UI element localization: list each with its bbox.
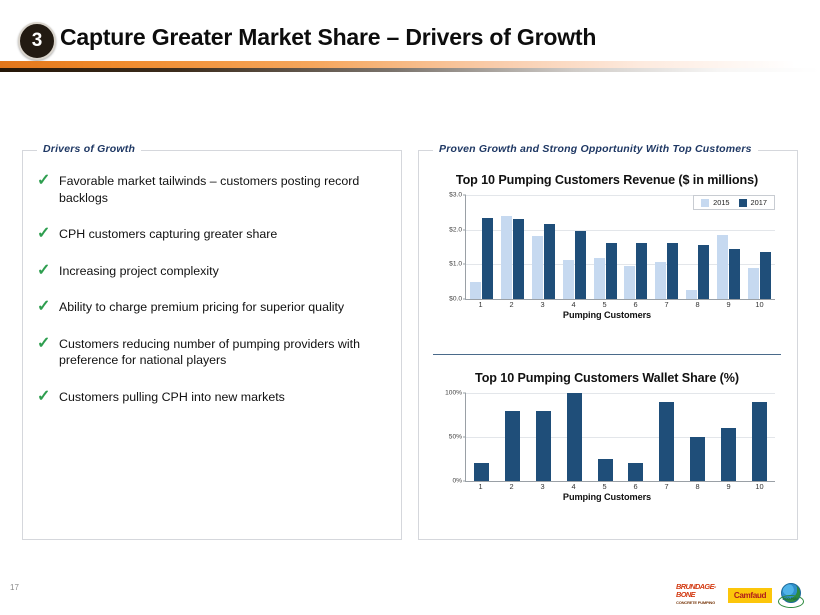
- x-axis-tick-label: 10: [744, 482, 775, 491]
- check-icon: ✓: [37, 263, 59, 278]
- x-axis-tick-label: 8: [682, 300, 713, 309]
- brundage-bone-logo-line2: BONE: [676, 591, 722, 599]
- brundage-bone-logo: BRUNDAGE- BONE CONCRETE PUMPING: [676, 585, 722, 605]
- y-axis-tick-label: 50%: [449, 434, 462, 441]
- legend-swatch: [701, 199, 709, 207]
- bar-group: [682, 195, 713, 299]
- x-axis-tick-label: 1: [465, 300, 496, 309]
- bar-group-container: [466, 195, 775, 299]
- x-axis-tick-label: 1: [465, 482, 496, 491]
- bar-group: [466, 393, 497, 481]
- revenue-chart-legend: 20152017: [693, 195, 775, 210]
- bar-group: [651, 393, 682, 481]
- check-icon: ✓: [37, 299, 59, 314]
- bar-group: [559, 195, 590, 299]
- brundage-bone-logo-line3: CONCRETE PUMPING: [676, 599, 722, 607]
- header-orange-rule: [0, 61, 820, 68]
- revenue-chart-xaxis-title: Pumping Customers: [433, 310, 781, 320]
- camfaud-logo: Camfaud: [728, 588, 772, 603]
- bar: [729, 249, 740, 299]
- x-axis-tick-label: 10: [744, 300, 775, 309]
- x-axis-tick-label: 4: [558, 300, 589, 309]
- x-axis-tick-label: 6: [620, 300, 651, 309]
- header-dark-rule: [0, 68, 820, 72]
- bullet-item: ✓Customers reducing number of pumping pr…: [37, 336, 389, 369]
- bar: [563, 260, 574, 299]
- legend-item: 2015: [701, 198, 729, 207]
- bullet-text: Customers pulling CPH into new markets: [59, 389, 285, 406]
- bar: [748, 268, 759, 299]
- y-axis-tick-label: $0.0: [449, 296, 462, 303]
- bar: [575, 231, 586, 299]
- y-axis-tick-label: 100%: [445, 390, 462, 397]
- bar: [482, 218, 493, 299]
- slide-header: 3 Capture Greater Market Share – Drivers…: [0, 0, 820, 78]
- bar: [690, 437, 705, 481]
- y-axis-tick-label: $1.0: [449, 261, 462, 268]
- legend-item: 2017: [739, 198, 767, 207]
- bar: [760, 252, 771, 299]
- bar: [667, 243, 678, 299]
- revenue-chart-xticks: 12345678910: [465, 300, 775, 309]
- bar-group: [682, 393, 713, 481]
- x-axis-tick-label: 4: [558, 482, 589, 491]
- bar: [721, 428, 736, 481]
- wallet-share-chart-plot: 0%50%100%: [465, 393, 775, 482]
- wallet-share-chart: Top 10 Pumping Customers Wallet Share (%…: [433, 371, 781, 521]
- section-number-badge: 3: [18, 22, 56, 60]
- bar-group: [621, 195, 652, 299]
- page-title: Capture Greater Market Share – Drivers o…: [60, 24, 596, 51]
- bar-group: [713, 195, 744, 299]
- bullet-item: ✓Ability to charge premium pricing for s…: [37, 299, 389, 316]
- bar-group: [744, 195, 775, 299]
- check-icon: ✓: [37, 226, 59, 241]
- revenue-chart: Top 10 Pumping Customers Revenue ($ in m…: [433, 173, 781, 343]
- check-icon: ✓: [37, 173, 59, 188]
- bullet-text: CPH customers capturing greater share: [59, 226, 277, 243]
- x-axis-tick-label: 7: [651, 300, 682, 309]
- bar: [752, 402, 767, 481]
- bar: [659, 402, 674, 481]
- bar-group: [466, 195, 497, 299]
- bullet-item: ✓Favorable market tailwinds – customers …: [37, 173, 389, 206]
- bar: [513, 219, 524, 299]
- chart-divider: [433, 354, 781, 355]
- bar-group-container: [466, 393, 775, 481]
- bar-group: [744, 393, 775, 481]
- check-icon: ✓: [37, 389, 59, 404]
- bar: [532, 236, 543, 299]
- bar-group: [559, 393, 590, 481]
- bar: [624, 266, 635, 299]
- bar: [594, 258, 605, 299]
- bullet-text: Favorable market tailwinds – customers p…: [59, 173, 389, 206]
- bullet-item: ✓Increasing project complexity: [37, 263, 389, 280]
- bar-group: [528, 195, 559, 299]
- y-axis-tick-label: $3.0: [449, 192, 462, 199]
- bar: [505, 411, 520, 481]
- bar-group: [651, 195, 682, 299]
- bar: [501, 216, 512, 299]
- x-axis-tick-label: 9: [713, 482, 744, 491]
- bar-group: [497, 393, 528, 481]
- bar: [686, 290, 697, 299]
- revenue-chart-title: Top 10 Pumping Customers Revenue ($ in m…: [433, 173, 781, 187]
- x-axis-tick-label: 2: [496, 482, 527, 491]
- wallet-share-chart-xaxis-title: Pumping Customers: [433, 492, 781, 502]
- y-axis-tick-label: 0%: [452, 478, 462, 485]
- bar-group: [621, 393, 652, 481]
- bar-group: [590, 195, 621, 299]
- bar-group: [590, 393, 621, 481]
- x-axis-tick-label: 3: [527, 482, 558, 491]
- x-axis-tick-label: 5: [589, 482, 620, 491]
- bar: [567, 393, 582, 481]
- bar-group: [528, 393, 559, 481]
- right-panel-label: Proven Growth and Strong Opportunity Wit…: [433, 143, 758, 155]
- drivers-bullet-list: ✓Favorable market tailwinds – customers …: [37, 173, 389, 425]
- page-number: 17: [10, 583, 19, 592]
- eco-pan-logo-caption: ECO-PAN: [780, 597, 800, 601]
- y-axis-tick-label: $2.0: [449, 226, 462, 233]
- bullet-text: Increasing project complexity: [59, 263, 219, 280]
- legend-swatch: [739, 199, 747, 207]
- x-axis-tick-label: 9: [713, 300, 744, 309]
- bar: [636, 243, 647, 300]
- bar-group: [713, 393, 744, 481]
- x-axis-tick-label: 5: [589, 300, 620, 309]
- bar: [470, 282, 481, 299]
- x-axis-tick-label: 2: [496, 300, 527, 309]
- bar: [655, 262, 666, 299]
- bullet-item: ✓Customers pulling CPH into new markets: [37, 389, 389, 406]
- wallet-share-chart-title: Top 10 Pumping Customers Wallet Share (%…: [433, 371, 781, 385]
- eco-pan-logo: ECO-PAN: [778, 583, 802, 607]
- bar: [717, 235, 728, 299]
- x-axis-tick-label: 8: [682, 482, 713, 491]
- legend-label: 2017: [751, 198, 767, 207]
- x-axis-tick-label: 3: [527, 300, 558, 309]
- bar-group: [497, 195, 528, 299]
- x-axis-tick-label: 7: [651, 482, 682, 491]
- wallet-share-chart-xticks: 12345678910: [465, 482, 775, 491]
- bullet-text: Customers reducing number of pumping pro…: [59, 336, 389, 369]
- bar: [474, 463, 489, 481]
- bar: [628, 463, 643, 481]
- bullet-text: Ability to charge premium pricing for su…: [59, 299, 344, 316]
- bar: [598, 459, 613, 481]
- proven-growth-panel: Proven Growth and Strong Opportunity Wit…: [418, 150, 798, 540]
- bar: [698, 245, 709, 299]
- bar: [536, 411, 551, 481]
- revenue-chart-plot: $0.0$1.0$2.0$3.0: [465, 195, 775, 300]
- x-axis-tick-label: 6: [620, 482, 651, 491]
- check-icon: ✓: [37, 336, 59, 351]
- legend-label: 2015: [713, 198, 729, 207]
- footer-logos: BRUNDAGE- BONE CONCRETE PUMPING Camfaud …: [676, 583, 802, 607]
- bar: [544, 224, 555, 299]
- drivers-of-growth-panel: Drivers of Growth ✓Favorable market tail…: [22, 150, 402, 540]
- bar: [606, 243, 617, 300]
- bullet-item: ✓CPH customers capturing greater share: [37, 226, 389, 243]
- left-panel-label: Drivers of Growth: [37, 143, 141, 155]
